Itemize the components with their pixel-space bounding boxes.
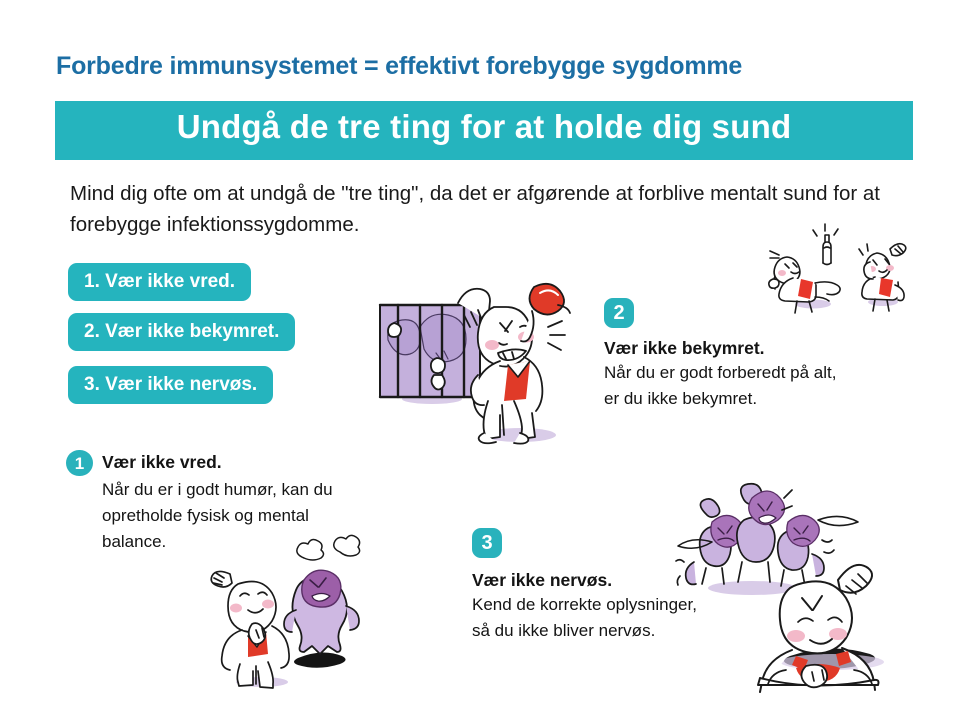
block-2-title: Vær ikke bekymret. (604, 338, 924, 359)
block-1-body-line-3: balance. (102, 529, 406, 555)
badge-number-3: 3 (472, 528, 502, 558)
calm-girl-and-angry-ghost-illustration (200, 540, 380, 690)
angry-person-shouting-illustration (372, 265, 592, 450)
block-1-body-line-1: Når du er i godt humør, kan du (102, 477, 406, 503)
title-banner: Undgå de tre ting for at holde dig sund (55, 101, 913, 160)
block-2-body-line-1: Når du er godt forberedt på alt, (604, 360, 924, 386)
numbered-block-1: 1 Vær ikke vred. Når du er i godt humør,… (66, 450, 406, 555)
block-3-title: Vær ikke nervøs. (472, 570, 802, 591)
banner-title: Undgå de tre ting for at holde dig sund (55, 108, 913, 146)
block-3-body-line-2: så du ikke bliver nervøs. (472, 618, 802, 644)
numbered-block-2: 2 Vær ikke bekymret. Når du er godt forb… (604, 298, 924, 412)
pill-item-3[interactable]: 3. Vær ikke nervøs. (68, 366, 273, 404)
block-3-body: Kend de korrekte oplysninger, så du ikke… (472, 592, 802, 644)
pill-item-1-label: 1. Vær ikke vred. (84, 271, 235, 293)
numbered-block-3: 3 Vær ikke nervøs. Kend de korrekte oply… (472, 528, 802, 644)
block-1-body: Når du er i godt humør, kan du oprethold… (102, 477, 406, 555)
block-1-body-line-2: opretholde fysisk og mental (102, 503, 406, 529)
pill-item-3-label: 3. Vær ikke nervøs. (84, 374, 257, 396)
slide-canvas: Forbedre immunsystemet = effektivt foreb… (0, 0, 960, 720)
page-headline: Forbedre immunsystemet = effektivt foreb… (56, 52, 916, 81)
block-3-body-line-1: Kend de korrekte oplysninger, (472, 592, 802, 618)
pill-item-1[interactable]: 1. Vær ikke vred. (68, 263, 251, 301)
badge-number-2: 2 (604, 298, 634, 328)
block-1-title: Vær ikke vred. (102, 452, 222, 473)
block-2-body-line-2: er du ikke bekymret. (604, 386, 924, 412)
pill-item-2[interactable]: 2. Vær ikke bekymret. (68, 313, 295, 351)
pill-item-2-label: 2. Vær ikke bekymret. (84, 321, 279, 343)
block-2-body: Når du er godt forberedt på alt, er du i… (604, 360, 924, 412)
badge-number-1: 1 (66, 450, 93, 476)
